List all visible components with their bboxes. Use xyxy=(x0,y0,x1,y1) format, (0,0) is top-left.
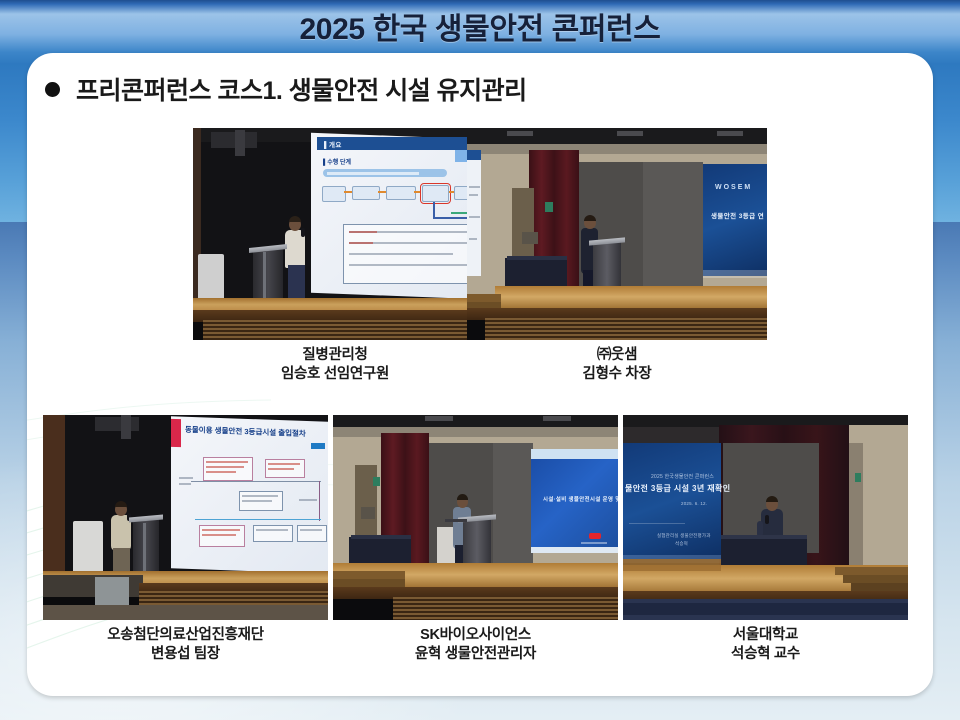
photo-wosem: WOSEM 생물안전 3등급 연 xyxy=(467,128,767,340)
photo-block-sk: 시설·설비 생물안전시설 운영 및 유 xyxy=(333,415,618,664)
slide-title-snu: 물안전 3등급 시설 3년 재확인 xyxy=(625,483,731,494)
caption-org: 오송첨단의료산업진흥재단 xyxy=(107,627,263,643)
photo-block-osong: 동물이용 생물안전 3등급시설 출입절차 xyxy=(43,415,328,664)
photo-caption-osong: 오송첨단의료산업진흥재단 변용섭 팀장 xyxy=(43,626,328,664)
slide-date-snu: 2025. 6. 12. xyxy=(681,501,707,506)
caption-person: 윤혁 생물안전관리자 xyxy=(333,645,618,664)
photo-caption-wosem: ㈜웃샘 김형수 차장 xyxy=(467,346,767,384)
slide-title: 2025 한국 생물안전 콘퍼런스 xyxy=(300,4,661,48)
slide-title-sk: 시설·설비 생물안전시설 운영 및 유 xyxy=(543,495,618,503)
caption-person: 석승혁 교수 xyxy=(623,645,908,664)
presentation-slide: 2025 한국 생물안전 콘퍼런스 xyxy=(0,0,960,720)
caption-person: 변용섭 팀장 xyxy=(43,645,328,664)
photo-caption-snu: 서울대학교 석승혁 교수 xyxy=(623,626,908,664)
caption-org: SK바이오사이언스 xyxy=(420,627,531,643)
section-heading-label: 프리콘퍼런스 코스1. 생물안전 시설 유지관리 xyxy=(76,71,527,107)
slide-footer-snu: 실험관리실 생물안전평가과 xyxy=(657,533,711,539)
photo-osong: 동물이용 생물안전 3등급시설 출입절차 xyxy=(43,415,328,620)
slide-subtitle-snu: 2025 한국생물안전 콘퍼런스 xyxy=(651,473,714,480)
slide-title-bar: 2025 한국 생물안전 콘퍼런스 xyxy=(0,0,960,52)
caption-person: 임승호 선임연구원 xyxy=(193,365,477,384)
photo-block-kdca: ▌개요 ▌수행 단계 xyxy=(193,128,477,384)
photo-caption-kdca: 질병관리청 임승호 선임연구원 xyxy=(193,346,477,384)
photo-block-wosem: WOSEM 생물안전 3등급 연 xyxy=(467,128,767,384)
caption-person: 김형수 차장 xyxy=(467,365,767,384)
caption-org: ㈜웃샘 xyxy=(597,347,637,363)
photo-caption-sk: SK바이오사이언스 윤혁 생물안전관리자 xyxy=(333,626,618,664)
caption-org: 질병관리청 xyxy=(302,347,367,363)
slide-title-wosem: 생물안전 3등급 연 xyxy=(711,210,764,220)
photo-block-snu: 2025 한국생물안전 콘퍼런스 물안전 3등급 시설 3년 재확인 2025.… xyxy=(623,415,908,664)
photo-snu: 2025 한국생물안전 콘퍼런스 물안전 3등급 시설 3년 재확인 2025.… xyxy=(623,415,908,620)
slide-brand-wosem: WOSEM xyxy=(715,184,752,191)
section-heading: 프리콘퍼런스 코스1. 생물안전 시설 유지관리 xyxy=(45,71,527,107)
caption-org: 서울대학교 xyxy=(733,627,798,643)
photo-sk: 시설·설비 생물안전시설 운영 및 유 xyxy=(333,415,618,620)
bullet-dot-icon xyxy=(45,82,60,97)
photo-kdca: ▌개요 ▌수행 단계 xyxy=(193,128,477,340)
content-card: 프리콘퍼런스 코스1. 생물안전 시설 유지관리 ▌개요 ▌수행 단계 xyxy=(27,53,933,696)
